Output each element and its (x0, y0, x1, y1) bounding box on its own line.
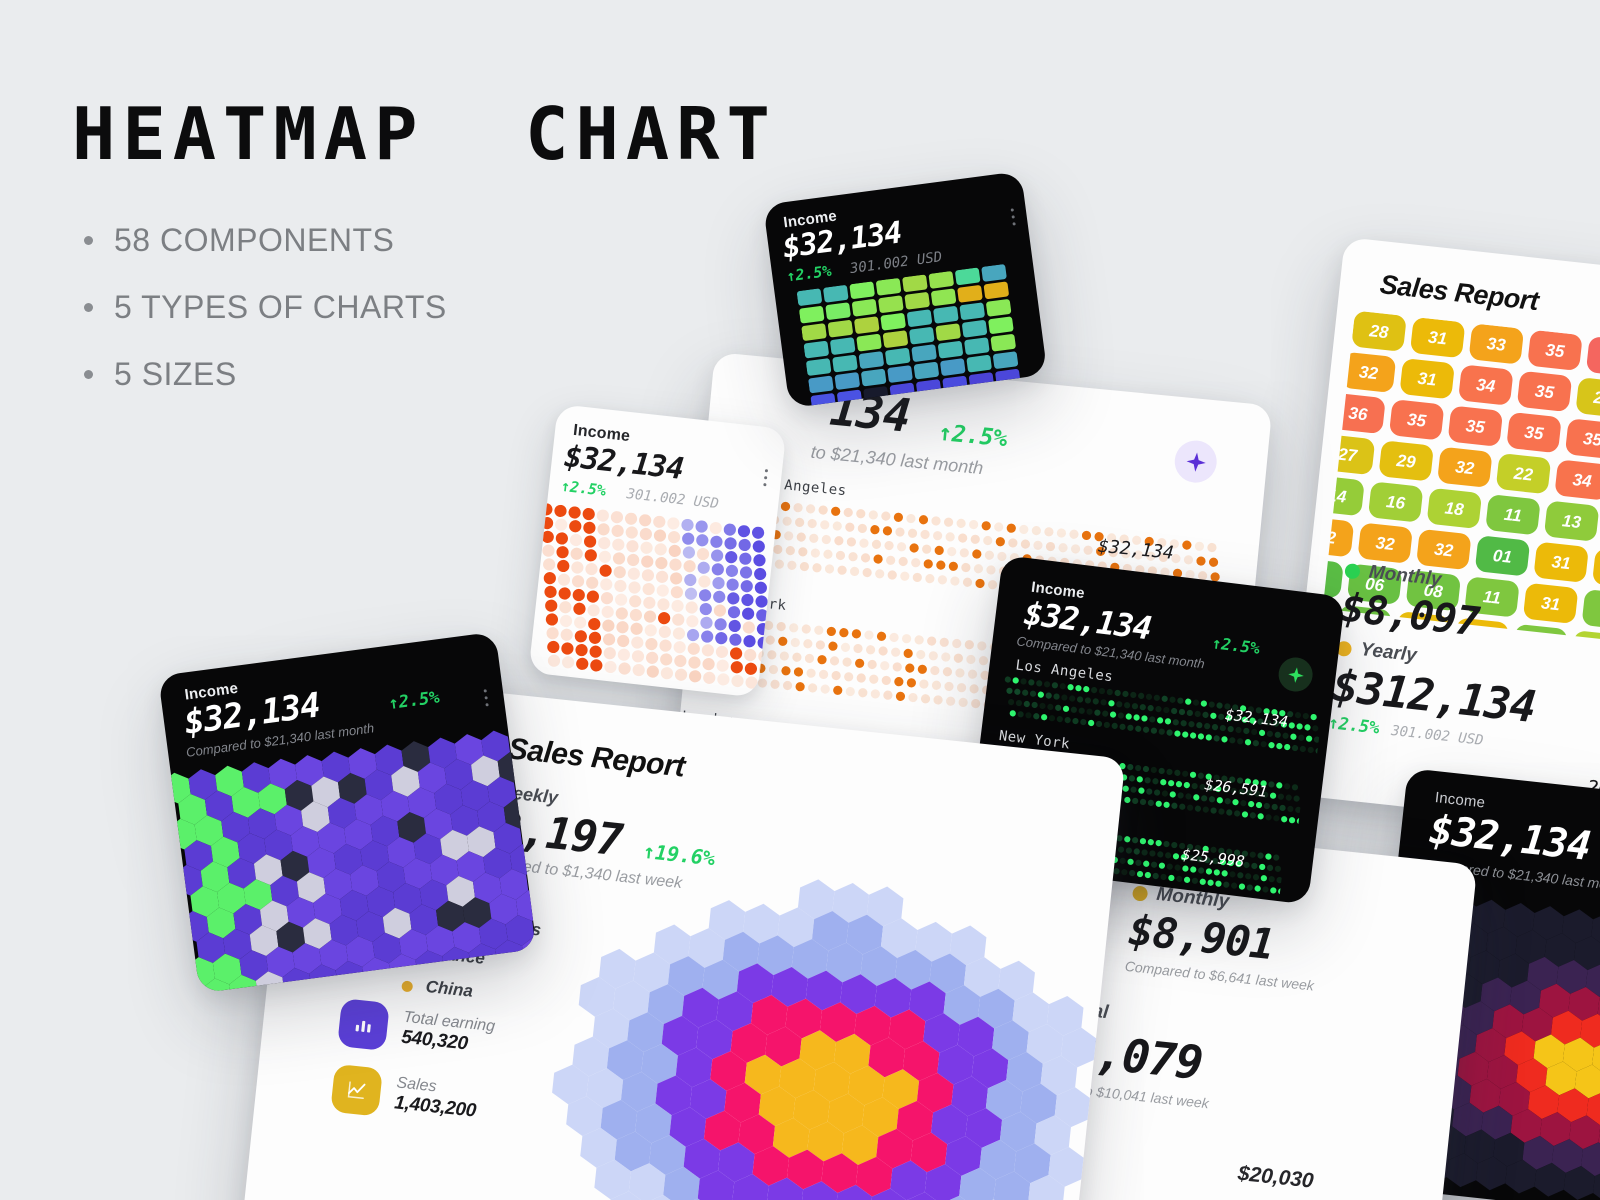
kebab-menu-icon[interactable] (1011, 208, 1016, 225)
svg-text:11: 11 (1503, 505, 1523, 526)
list-item: 5 TYPES OF CHARTS (72, 289, 777, 326)
card-income-grid-dark[interactable]: Income $32,134 ↑2.5% 301.002 USD (763, 171, 1048, 408)
poster-stage: HEATMAP CHART 58 COMPONENTS 5 TYPES OF C… (0, 0, 1600, 1200)
list-item: 5 SIZES (72, 356, 777, 393)
svg-text:28: 28 (1368, 321, 1390, 342)
svg-text:31: 31 (1417, 369, 1438, 390)
legend-label: China (425, 977, 474, 1001)
kebab-menu-icon[interactable] (763, 469, 768, 486)
svg-text:35: 35 (1465, 416, 1486, 437)
feature-list: 58 COMPONENTS 5 TYPES OF CHARTS 5 SIZES (72, 222, 777, 393)
svg-text:27: 27 (1336, 444, 1359, 465)
svg-text:34: 34 (1475, 375, 1496, 396)
card-income-hex-left[interactable]: Income $32,134 ↑2.5% Compared to $21,340… (158, 632, 537, 994)
income-change: ↑2.5% (387, 688, 440, 715)
yearly-label: Yearly (1359, 639, 1417, 667)
card-income-dots-light[interactable]: Income $32,134 ↑2.5% 301.002 USD (528, 404, 786, 698)
svg-text:32: 32 (1358, 362, 1379, 383)
heatmap-dots-small (528, 503, 779, 698)
page-title: Sales Report (506, 732, 686, 784)
sparkle-icon (1286, 665, 1305, 684)
income-change: ↑2.5% (560, 477, 607, 500)
sparkle-icon (1344, 562, 1361, 579)
svg-text:35: 35 (1406, 410, 1427, 431)
legend-swatch-china (401, 980, 413, 992)
yearly-usd: 301.002 USD (1390, 723, 1484, 749)
headline-block: HEATMAP CHART 58 COMPONENTS 5 TYPES OF C… (72, 98, 777, 423)
city-value: $20,030 (1237, 1162, 1315, 1194)
yearly-change: ↑2.5% (1327, 713, 1380, 738)
svg-text:13: 13 (1561, 511, 1582, 532)
kebab-menu-icon[interactable] (484, 689, 489, 706)
page-title: HEATMAP CHART (72, 98, 777, 170)
svg-text:18: 18 (1444, 498, 1465, 519)
svg-text:32: 32 (1433, 540, 1454, 561)
list-item: 58 COMPONENTS (72, 222, 777, 259)
card-sales-report-right[interactable]: Sales Report 283133354432313435262836353… (1285, 237, 1600, 839)
svg-text:36: 36 (1348, 403, 1369, 424)
svg-text:34: 34 (1572, 470, 1593, 491)
line-chart-icon (330, 1064, 383, 1117)
heatmap-hex-main (530, 822, 1126, 1200)
sparkle-badge-cities[interactable] (1173, 439, 1219, 485)
svg-text:22: 22 (1512, 464, 1534, 485)
svg-text:35: 35 (1582, 429, 1600, 450)
sparkle-icon (1132, 885, 1148, 901)
svg-text:32: 32 (1454, 457, 1475, 478)
svg-text:33: 33 (1486, 334, 1507, 355)
income-change: ↑2.5% (785, 262, 832, 286)
svg-text:31: 31 (1551, 552, 1572, 573)
page-title: Sales Report (1378, 269, 1539, 317)
income-usd: 301.002 USD (626, 486, 720, 512)
svg-text:31: 31 (1427, 328, 1448, 349)
income-change: ↑2.5% (1211, 633, 1261, 658)
svg-text:29: 29 (1395, 451, 1417, 472)
sparkle-badge-green[interactable] (1277, 656, 1315, 694)
svg-text:01: 01 (1492, 546, 1513, 567)
svg-text:32: 32 (1375, 533, 1396, 554)
svg-text:14: 14 (1327, 486, 1348, 507)
bar-chart-icon (337, 998, 390, 1051)
sparkle-icon (1184, 450, 1207, 473)
svg-text:35: 35 (1545, 340, 1566, 361)
svg-text:35: 35 (1524, 423, 1545, 444)
svg-text:16: 16 (1385, 492, 1406, 513)
income-change: ↑2.5% (937, 420, 1008, 453)
heatmap-hex-left (158, 725, 537, 994)
legend-item: China (399, 974, 535, 1008)
svg-text:35: 35 (1534, 381, 1555, 402)
